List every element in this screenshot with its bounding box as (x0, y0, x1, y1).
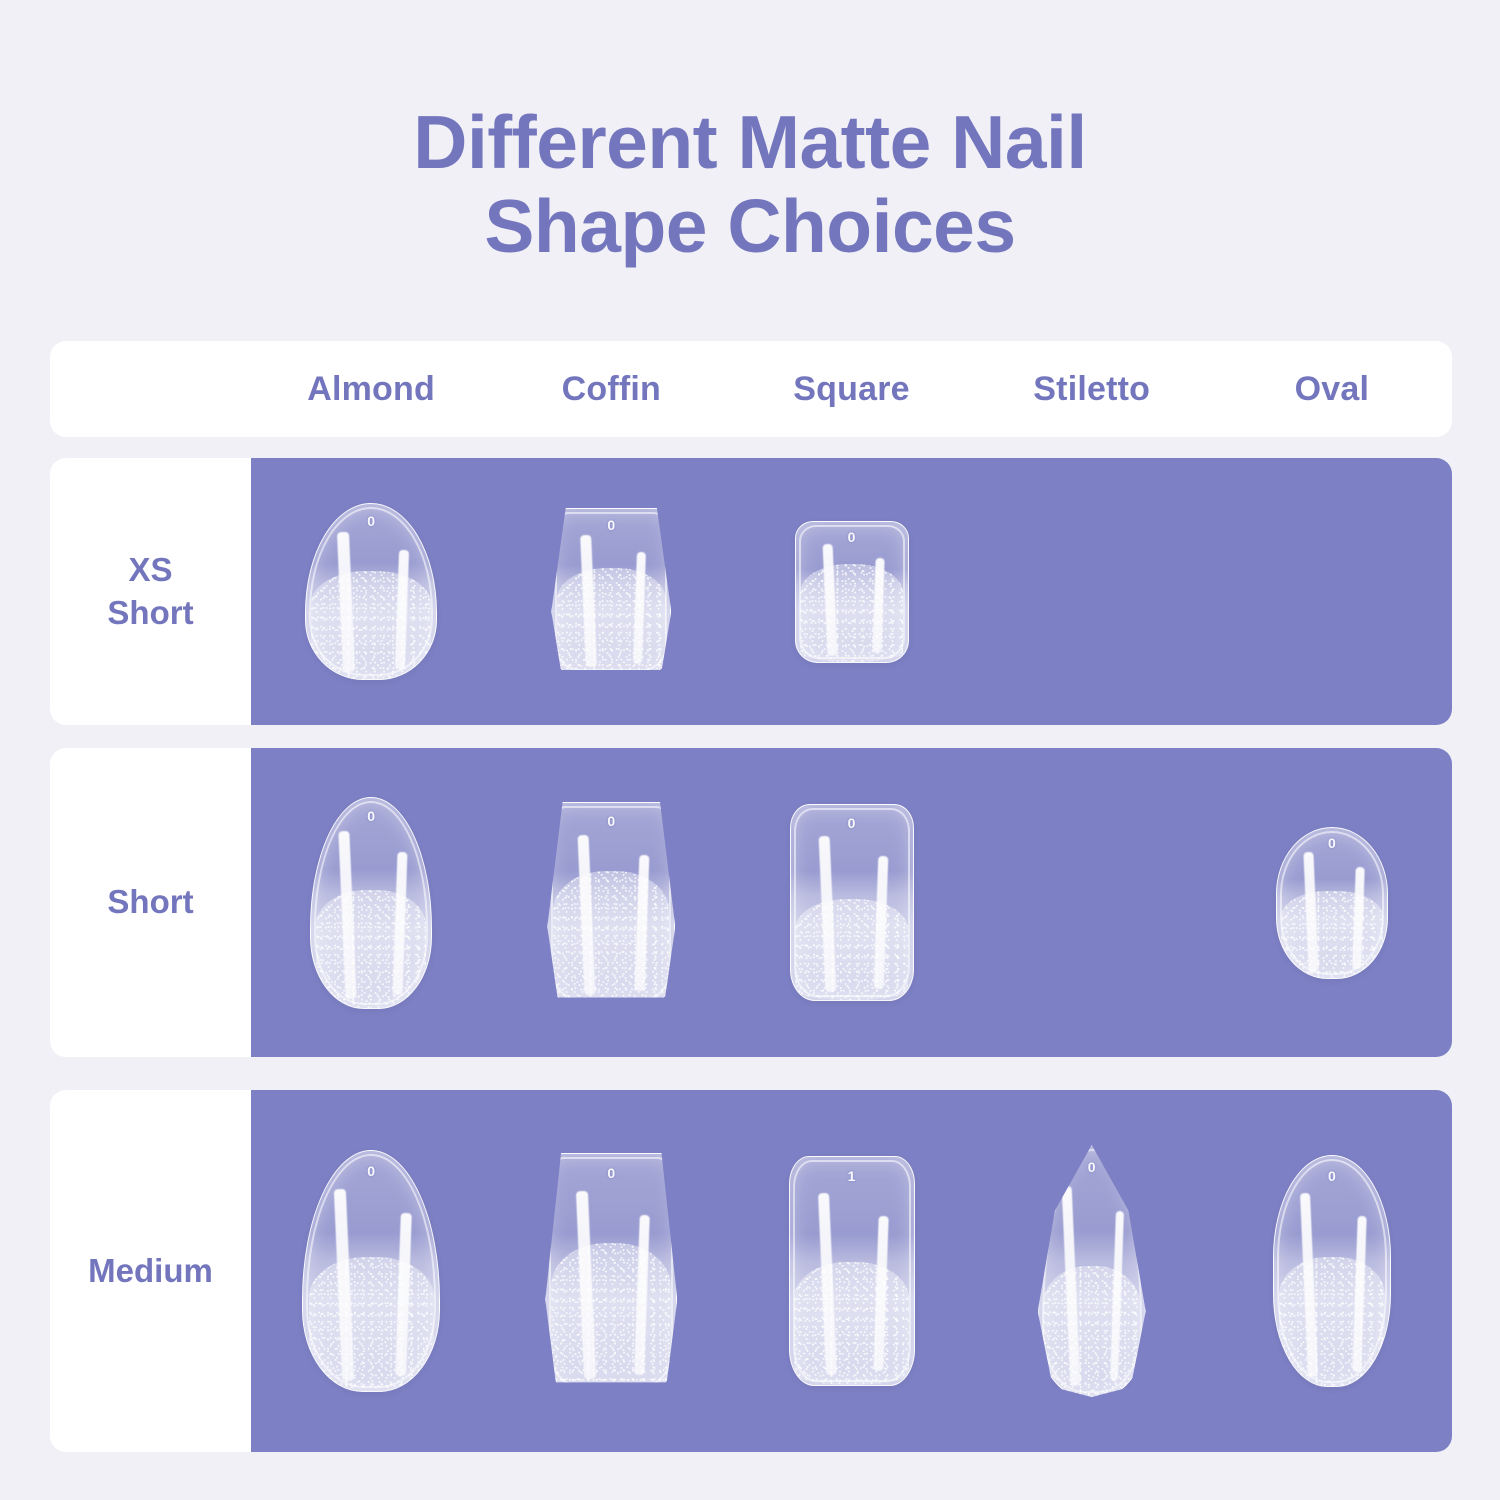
nail-size-mark: 1 (790, 1168, 914, 1184)
cell-medium-coffin: 0 (491, 1090, 731, 1452)
column-header-row: Almond Coffin Square Stiletto Oval (251, 341, 1452, 437)
nail-size-mark: 0 (552, 517, 670, 533)
row-label-medium: Medium (50, 1090, 251, 1452)
nail-tip-almond-medium: 0 (302, 1150, 440, 1392)
nail-size-mark: 0 (1039, 1159, 1145, 1175)
cell-short-square: 0 (731, 748, 971, 1057)
page-title-line-1: Different Matte Nail (0, 100, 1500, 184)
matte-frost-area (1281, 891, 1382, 978)
matte-frost-area (1043, 1266, 1141, 1396)
matte-frost-area (311, 571, 431, 680)
table-row-medium: Medium 0 0 (50, 1090, 1452, 1452)
matte-frost-area (557, 568, 666, 674)
matte-frost-area (1279, 1257, 1386, 1386)
nail-tip-almond-xs: 0 (305, 503, 437, 680)
row-label-short: Short (50, 748, 251, 1057)
cell-short-almond: 0 (251, 748, 491, 1057)
page-title: Different Matte Nail Shape Choices (0, 100, 1500, 268)
cell-xs-almond: 0 (251, 458, 491, 725)
nail-size-mark: 0 (306, 513, 436, 529)
nail-tip-square-short: 0 (790, 804, 914, 1001)
row-panel-xs-short: 0 0 0 (251, 458, 1452, 725)
infographic-page: Different Matte Nail Shape Choices Almon… (0, 0, 1500, 1500)
nail-tip-square-xs: 0 (795, 521, 909, 663)
row-label-line-1: Medium (88, 1250, 213, 1292)
row-label-line-1: Short (107, 881, 193, 923)
matte-frost-area (309, 1257, 434, 1391)
table-row-short: Short 0 0 (50, 748, 1452, 1057)
nail-tip-stiletto-medium: 0 (1038, 1145, 1146, 1397)
nail-tip-oval-medium: 0 (1273, 1155, 1391, 1387)
nail-size-mark: 0 (303, 1163, 439, 1179)
cell-medium-oval: 0 (1212, 1090, 1452, 1452)
nail-size-mark: 0 (796, 529, 908, 545)
page-title-line-2: Shape Choices (0, 184, 1500, 268)
cell-short-oval: 0 (1212, 748, 1452, 1057)
nail-size-mark: 0 (791, 815, 913, 831)
cell-xs-coffin: 0 (491, 458, 731, 725)
matte-frost-area (316, 890, 426, 1008)
table-row-xs-short: XS Short 0 0 (50, 458, 1452, 725)
nail-tip-square-medium: 1 (789, 1156, 915, 1386)
row-label-xs-short: XS Short (50, 458, 251, 725)
matte-frost-area (795, 899, 907, 1000)
nail-tip-coffin-xs: 0 (551, 508, 671, 675)
cell-medium-almond: 0 (251, 1090, 491, 1452)
row-label-line-2: Short (107, 594, 193, 631)
nail-tip-oval-short: 0 (1276, 827, 1388, 979)
column-header-almond: Almond (251, 341, 491, 437)
column-header-oval: Oval (1212, 341, 1452, 437)
nail-size-mark: 0 (546, 1165, 676, 1181)
row-panel-medium: 0 0 1 (251, 1090, 1452, 1452)
cell-medium-stiletto: 0 (972, 1090, 1212, 1452)
nail-size-mark: 0 (311, 808, 431, 824)
cell-short-coffin: 0 (491, 748, 731, 1057)
matte-frost-area (800, 564, 903, 662)
nail-size-mark: 0 (548, 813, 674, 829)
column-header-stiletto: Stiletto (972, 341, 1212, 437)
cell-xs-square: 0 (731, 458, 971, 725)
nail-size-mark: 0 (1277, 835, 1387, 851)
cell-medium-square: 1 (731, 1090, 971, 1452)
column-header-square: Square (731, 341, 971, 437)
nail-tip-almond-short: 0 (310, 797, 432, 1009)
matte-frost-area (551, 1243, 671, 1389)
row-panel-short: 0 0 0 (251, 748, 1452, 1057)
nail-tip-coffin-medium: 0 (545, 1153, 677, 1390)
nail-size-mark: 0 (1274, 1168, 1390, 1184)
row-label-line-1: XS (128, 551, 172, 588)
matte-frost-area (794, 1262, 908, 1385)
matte-frost-area (553, 871, 669, 1003)
nail-tip-coffin-short: 0 (547, 802, 675, 1004)
column-header-card: Almond Coffin Square Stiletto Oval (50, 341, 1452, 437)
column-header-coffin: Coffin (491, 341, 731, 437)
